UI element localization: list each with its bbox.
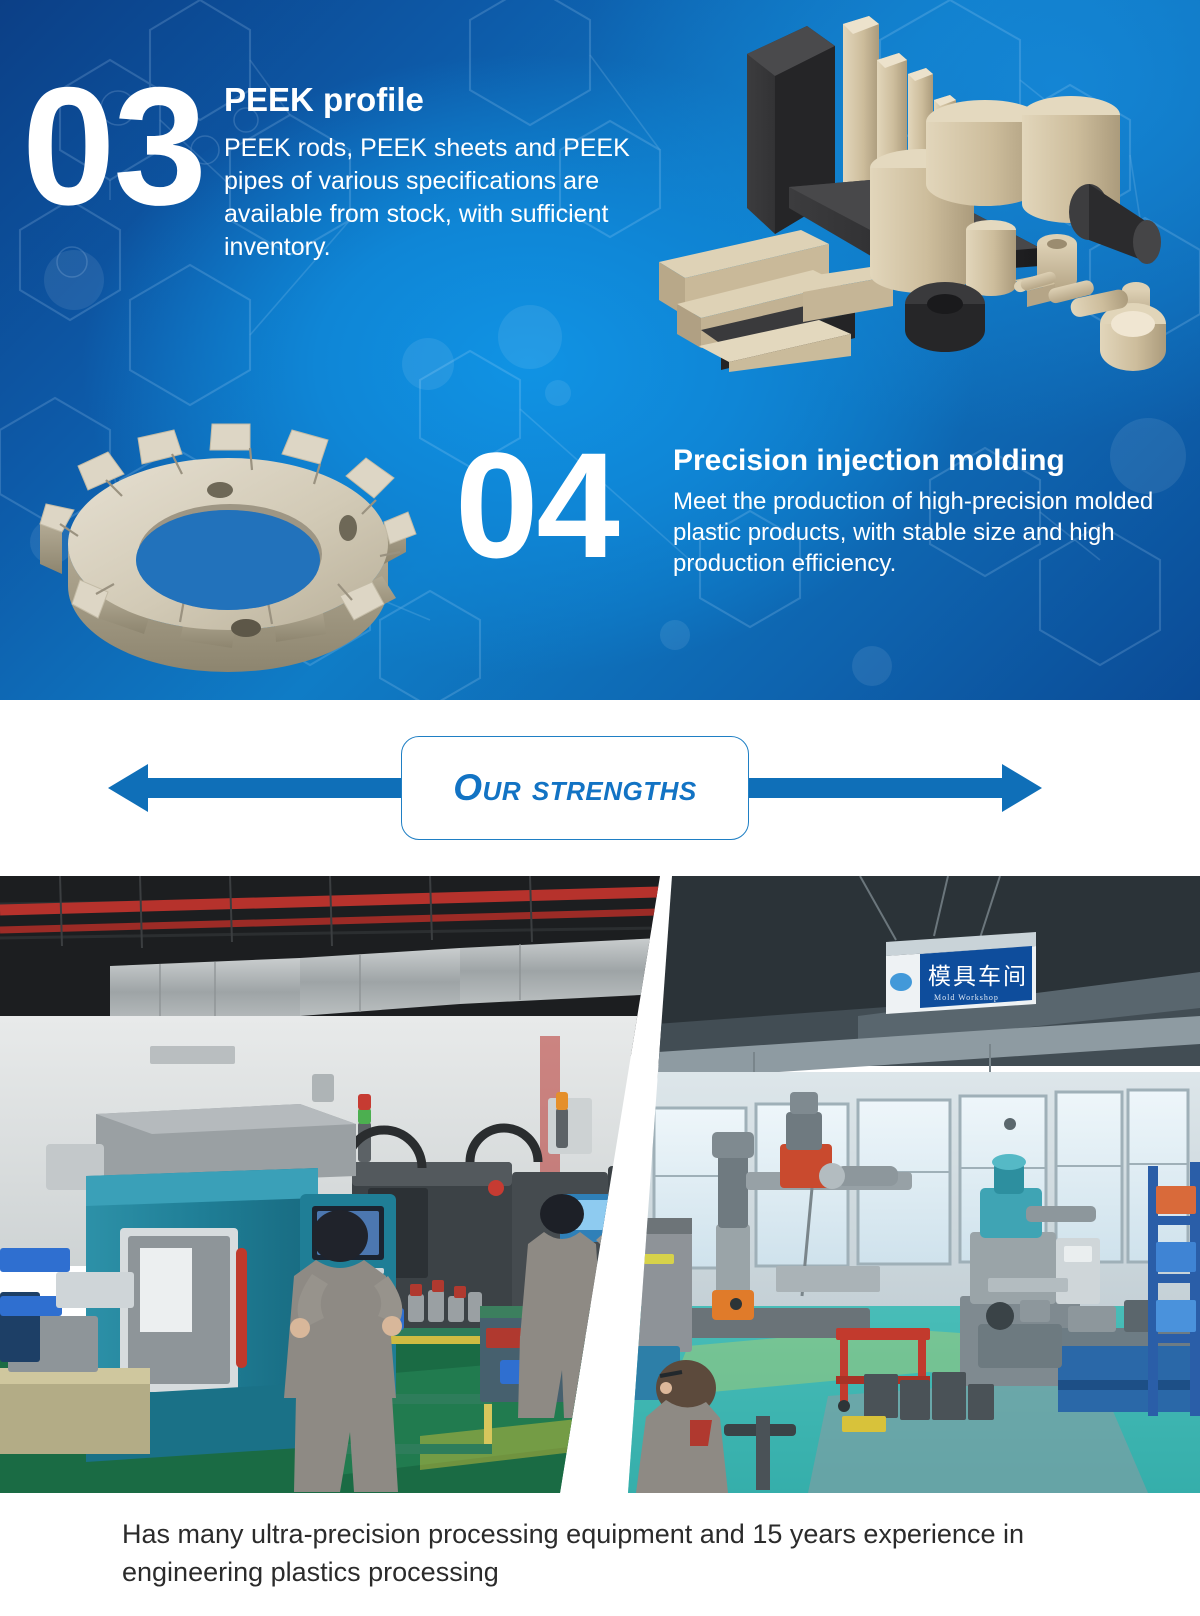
svg-text:模具车间: 模具车间 (928, 964, 1028, 990)
strengths-banner: Our strengths (0, 700, 1200, 876)
strengths-label: Our strengths (453, 767, 696, 809)
section-body-03: PEEK rods, PEEK sheets and PEEK pipes of… (224, 132, 676, 264)
hero-blue-panel: 03 PEEK profile PEEK rods, PEEK sheets a… (0, 0, 1200, 700)
caption-text: Has many ultra-precision processing equi… (122, 1515, 1080, 1592)
bokeh-dot (545, 380, 571, 406)
hero-section-03: 03 PEEK profile PEEK rods, PEEK sheets a… (22, 74, 682, 344)
cnc-machining-workshop-photo (0, 876, 660, 1493)
product-feature-page: 03 PEEK profile PEEK rods, PEEK sheets a… (0, 0, 1200, 1616)
strengths-label-box: Our strengths (401, 736, 749, 840)
peek-stock-profiles-photo (655, 12, 1200, 372)
svg-text:Mold Workshop: Mold Workshop (934, 993, 999, 1002)
hero-section-04: 04 Precision injection molding Meet the … (455, 438, 1185, 658)
workshop-photo-band: 模具车间 Mold Workshop (0, 876, 1200, 1493)
section-body-04: Meet the production of high-precision mo… (673, 486, 1183, 580)
section-title-03: PEEK profile (224, 82, 676, 118)
section-number-03: 03 (22, 62, 205, 230)
mold-workshop-photo: 模具车间 Mold Workshop (628, 876, 1200, 1493)
caption-block: Has many ultra-precision processing equi… (0, 1493, 1200, 1616)
peek-gear-ring-photo (28, 398, 428, 690)
bokeh-dot (402, 338, 454, 390)
section-number-04: 04 (455, 430, 618, 580)
section-title-04: Precision injection molding (673, 444, 1183, 477)
